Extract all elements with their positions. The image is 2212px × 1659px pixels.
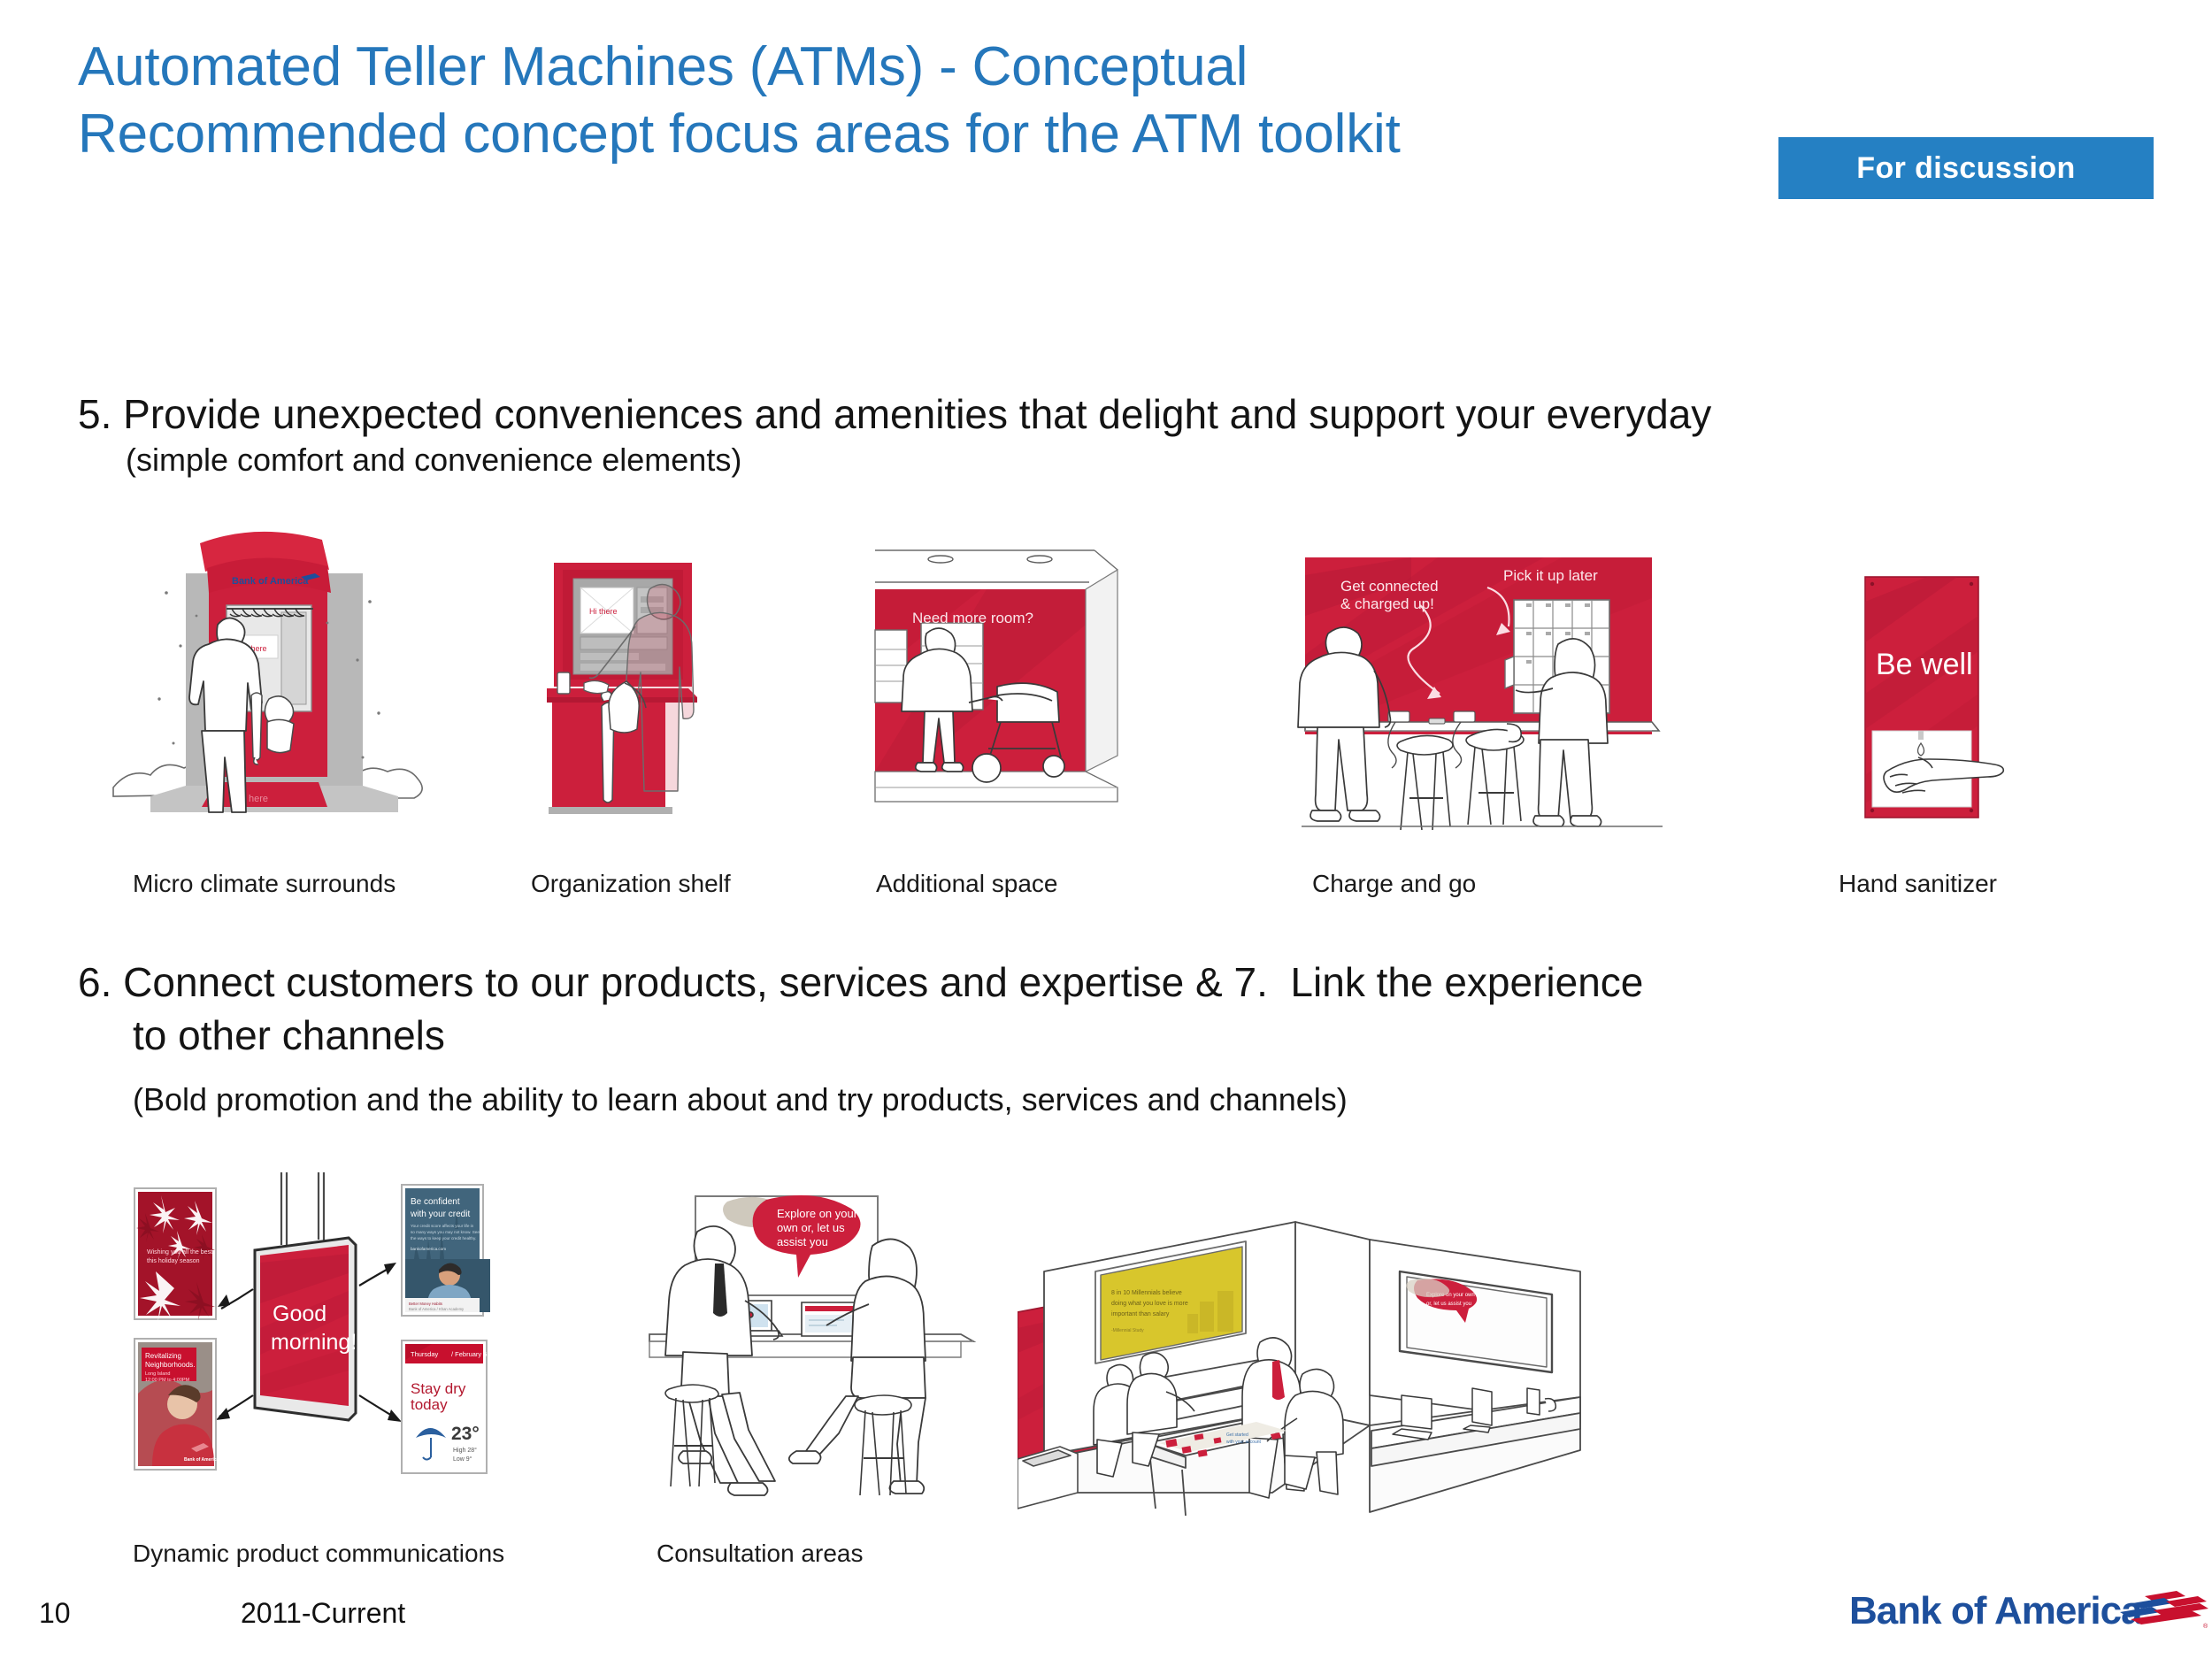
svg-text:the ways to keep your credit h: the ways to keep your credit healthy. xyxy=(411,1236,476,1240)
section-6-subheading: (Bold promotion and the ability to learn… xyxy=(133,1079,1348,1121)
svg-text:Better Money Habits: Better Money Habits xyxy=(409,1302,442,1306)
bank-of-america-logo: Bank of America ® xyxy=(1849,1584,2185,1642)
svg-text:Good: Good xyxy=(273,1302,326,1326)
figure-charge-and-go: Get connected & charged up! Pick it up l… xyxy=(1296,549,1668,867)
svg-text:23°: 23° xyxy=(451,1424,480,1444)
svg-text:today: today xyxy=(411,1396,448,1413)
caption-dynamic-product-communications: Dynamic product communications xyxy=(133,1540,504,1568)
svg-text:Low 9°: Low 9° xyxy=(453,1455,472,1463)
section-5-heading: 5. Provide unexpected conveniences and a… xyxy=(78,388,1711,442)
svg-text:Long Island: Long Island xyxy=(145,1371,170,1377)
caption-micro-climate-surrounds: Micro climate surrounds xyxy=(133,870,396,898)
svg-text:Thursday: Thursday xyxy=(411,1350,439,1358)
svg-text:Pick it up later: Pick it up later xyxy=(1503,567,1598,584)
svg-text:Be confident: Be confident xyxy=(411,1197,460,1207)
svg-text:8 in 10 Millennials believe: 8 in 10 Millennials believe xyxy=(1111,1290,1182,1296)
title-line-1: Automated Teller Machines (ATMs) - Conce… xyxy=(78,34,1901,101)
figure-micro-climate-surrounds: Hi there Pin here Bank of America xyxy=(104,531,441,867)
svg-text:Get connected: Get connected xyxy=(1340,578,1439,595)
svg-text:-Millennial Study: -Millennial Study xyxy=(1111,1328,1144,1333)
title-line-2: Recommended concept focus areas for the … xyxy=(78,101,1901,168)
svg-text:own or, let us: own or, let us xyxy=(777,1221,845,1234)
svg-text:this holiday season: this holiday season xyxy=(147,1258,200,1264)
figure-consultation-areas: Explore on your own or, let us assist yo… xyxy=(646,1177,982,1531)
svg-text:Bank of America: Bank of America xyxy=(232,576,309,587)
caption-hand-sanitizer: Hand sanitizer xyxy=(1839,870,1997,898)
svg-text:/ February 5: / February 5 xyxy=(451,1350,487,1358)
svg-text:Get started: Get started xyxy=(1226,1432,1248,1438)
caption-additional-space: Additional space xyxy=(876,870,1057,898)
svg-text:®: ® xyxy=(2203,1623,2208,1630)
svg-text:important than salary: important than salary xyxy=(1111,1311,1170,1317)
svg-text:12:00 PM to 4:00PM: 12:00 PM to 4:00PM xyxy=(145,1378,190,1383)
section-6-heading-line-1: 6. Connect customers to our products, se… xyxy=(78,956,1643,1010)
svg-text:morning!: morning! xyxy=(271,1330,357,1355)
svg-text:Bank of America / Khan Academy: Bank of America / Khan Academy xyxy=(409,1307,465,1311)
svg-text:Stay dry: Stay dry xyxy=(411,1380,466,1397)
section-5-subheading: (simple comfort and convenience elements… xyxy=(126,440,741,481)
boa-flag-icon: ® xyxy=(2115,1589,2212,1635)
figure-hand-sanitizer: Be well xyxy=(1832,566,2062,849)
svg-text:Revitalizing: Revitalizing xyxy=(145,1352,181,1360)
svg-text:Hi there: Hi there xyxy=(589,607,618,616)
svg-text:with your credit: with your credit xyxy=(410,1210,470,1219)
svg-text:so many ways you may not know.: so many ways you may not know. See xyxy=(411,1230,480,1234)
svg-text:with your account: with your account xyxy=(1226,1440,1262,1445)
svg-text:or, let us assist you: or, let us assist you xyxy=(1426,1302,1471,1307)
status-badge: For discussion xyxy=(1778,137,2154,199)
svg-text:bankofamerica.com: bankofamerica.com xyxy=(411,1247,446,1251)
figure-isometric-branch-room: 8 in 10 Millennials believe doing what y… xyxy=(1018,1172,1593,1544)
figure-dynamic-product-communications: Good morning! Wishing you al xyxy=(113,1172,520,1526)
section-6-heading-line-2: to other channels xyxy=(133,1009,445,1063)
logo-wordmark: Bank of America xyxy=(1849,1589,2142,1633)
svg-text:doing what you love is more: doing what you love is more xyxy=(1111,1301,1188,1307)
svg-text:Bank of America: Bank of America xyxy=(184,1457,219,1463)
svg-text:Neighborhoods.: Neighborhoods. xyxy=(145,1361,195,1369)
svg-text:Your credit score affects your: Your credit score affects your life in xyxy=(411,1224,474,1228)
svg-text:Need more room?: Need more room? xyxy=(912,610,1033,626)
figure-additional-space: Need more room? xyxy=(863,531,1137,867)
page-title: Automated Teller Machines (ATMs) - Conce… xyxy=(78,34,1901,167)
svg-text:& charged up!: & charged up! xyxy=(1340,595,1434,612)
caption-charge-and-go: Charge and go xyxy=(1312,870,1476,898)
svg-text:assist you: assist you xyxy=(777,1235,828,1248)
footer-date-range: 2011-Current xyxy=(241,1597,405,1630)
svg-text:Wishing you all the best: Wishing you all the best xyxy=(147,1249,212,1256)
caption-consultation-areas: Consultation areas xyxy=(657,1540,863,1568)
page-number: 10 xyxy=(39,1597,71,1630)
svg-text:Be well: Be well xyxy=(1876,648,1973,681)
caption-organization-shelf: Organization shelf xyxy=(531,870,731,898)
svg-text:Explore on your: Explore on your xyxy=(777,1207,858,1220)
figure-organization-shelf: Hi there xyxy=(522,531,814,867)
svg-text:High 28°: High 28° xyxy=(453,1447,477,1454)
